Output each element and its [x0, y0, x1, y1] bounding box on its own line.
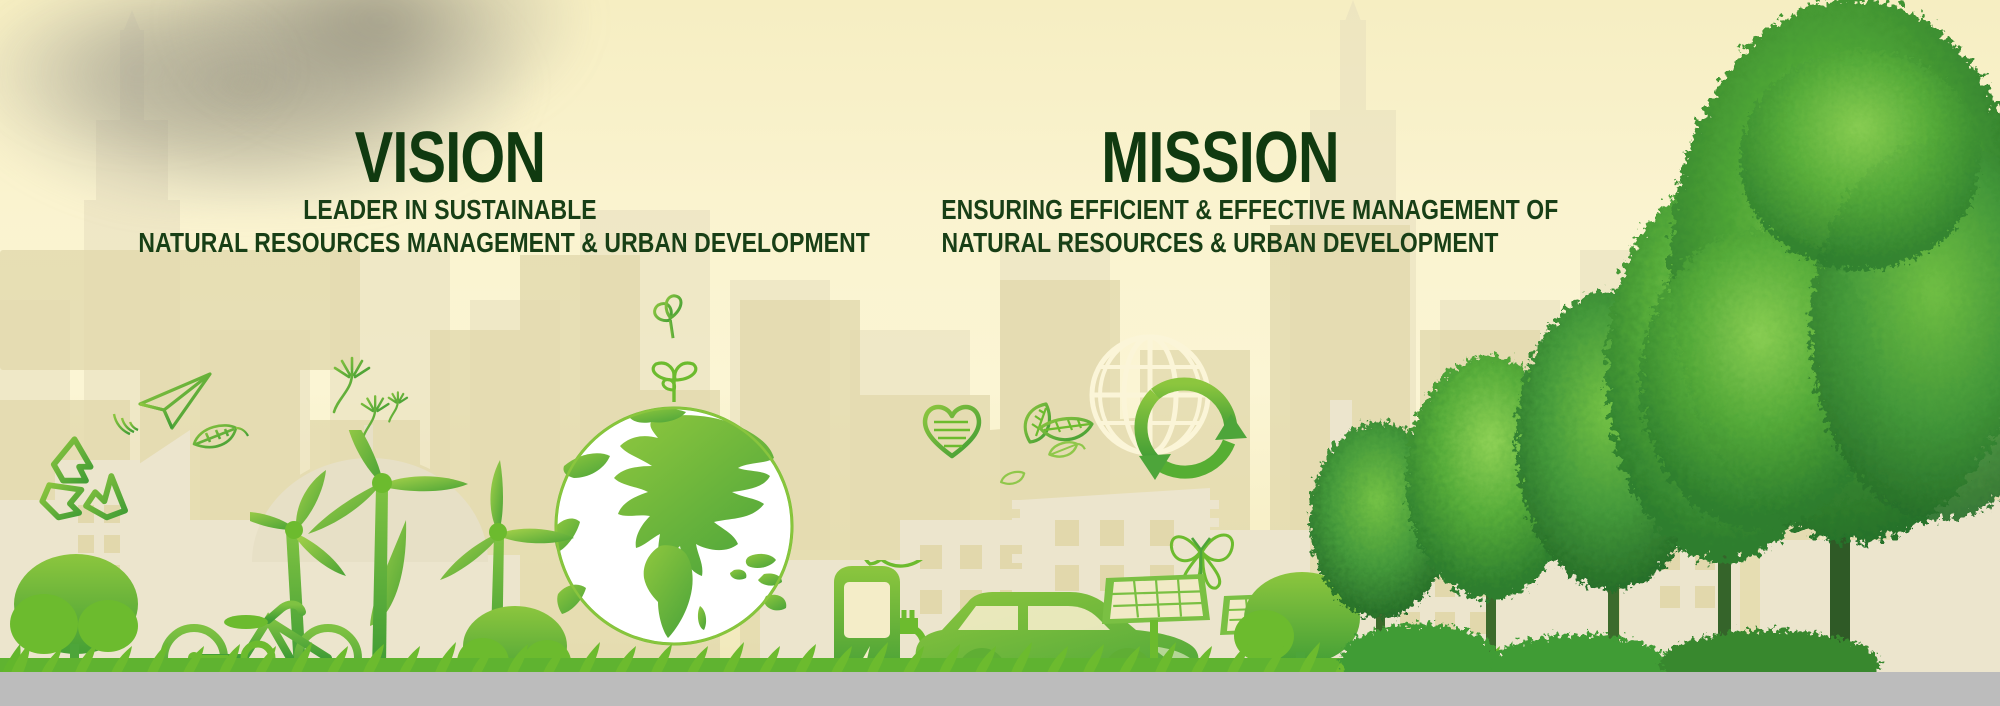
sprout-doodle-icon	[651, 294, 691, 341]
leaf-sprig-icon	[1025, 404, 1092, 442]
mission-text-block: MISSION ENSURING EFFICIENT & EFFECTIVE M…	[880, 125, 1560, 259]
vision-title: VISION	[146, 125, 754, 191]
leaf-icon-small	[1049, 442, 1085, 456]
mission-title: MISSION	[948, 125, 1492, 191]
vision-subtitle-line-2: NATURAL RESOURCES MANAGEMENT & URBAN DEV…	[138, 226, 761, 259]
tree-icon-main	[1640, 0, 2000, 686]
eco-vision-mission-banner: VISION LEADER IN SUSTAINABLE NATURAL RES…	[0, 0, 2000, 706]
dandelion-seed-icon-3	[389, 392, 407, 421]
vision-subtitle-line-1: LEADER IN SUSTAINABLE	[138, 193, 761, 226]
recycle-triangle-icon	[42, 439, 125, 517]
leaf-icon-left	[1001, 472, 1024, 484]
mission-subtitle-line-2: NATURAL RESOURCES & URBAN DEVELOPMENT	[941, 226, 1499, 259]
vision-text-block: VISION LEADER IN SUSTAINABLE NATURAL RES…	[70, 125, 830, 259]
leaf-icon	[194, 425, 248, 447]
paper-plane-icon	[114, 374, 210, 434]
mission-subtitle-line-1: ENSURING EFFICIENT & EFFECTIVE MANAGEMEN…	[941, 193, 1499, 226]
sprout-icon	[653, 363, 696, 402]
tree-photo-cluster	[1300, 0, 2000, 706]
heart-icon	[925, 407, 979, 456]
leaf-pair-icon	[863, 560, 930, 566]
road-strip	[0, 672, 2000, 706]
